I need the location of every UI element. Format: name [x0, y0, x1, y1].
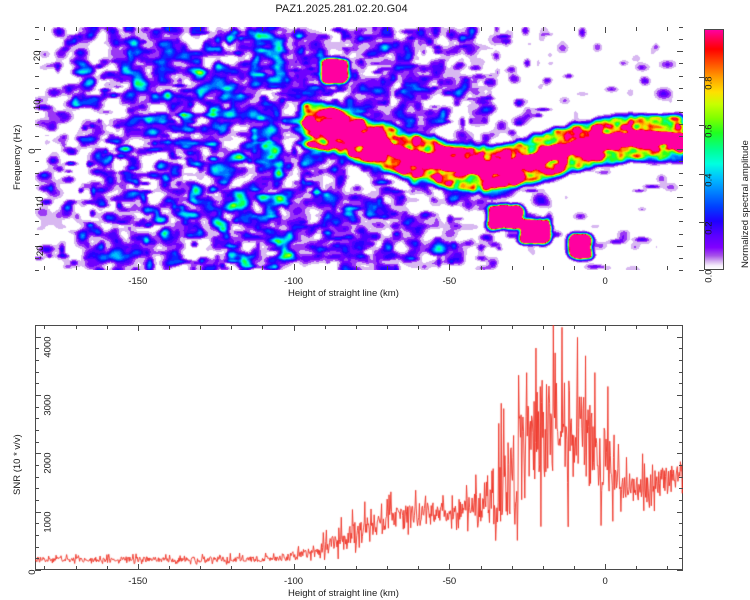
axis-tick [138, 264, 139, 270]
axis-tick [512, 566, 513, 570]
axis-tick [481, 27, 482, 31]
axis-tick [35, 325, 39, 326]
colorbar-tick-label: 0.0 [704, 270, 715, 283]
axis-tick [574, 325, 575, 329]
axis-tick [35, 500, 39, 501]
axis-tick [356, 325, 357, 329]
axis-tick [679, 221, 683, 222]
axis-tick [679, 209, 683, 210]
axis-tick [356, 266, 357, 270]
axis-tick [35, 558, 39, 559]
axis-tick [35, 27, 39, 28]
axis-tick [667, 566, 668, 570]
axis-tick [262, 27, 263, 31]
axis-tick [35, 488, 39, 489]
axis-tick [35, 465, 39, 466]
axis-tick [294, 27, 295, 33]
y-tick-label: 10 [32, 99, 43, 110]
axis-tick [231, 266, 232, 270]
axis-tick [231, 566, 232, 570]
spectrogram-y-axis-label: Frequency (Hz) [12, 125, 23, 190]
axis-tick [449, 564, 450, 570]
axis-tick [107, 27, 108, 31]
colorbar-tick-label: 0.6 [704, 125, 715, 138]
axis-tick [481, 325, 482, 329]
axis-tick [679, 39, 683, 40]
axis-tick [679, 547, 683, 548]
axis-tick [35, 523, 39, 524]
axis-tick [138, 564, 139, 570]
spectrogram-x-axis-label: Height of straight line (km) [288, 288, 399, 299]
axis-tick [35, 161, 39, 162]
x-tick-label: -150 [118, 576, 158, 587]
axis-tick [200, 27, 201, 31]
axis-tick [679, 76, 683, 77]
y-tick-label: 3000 [43, 395, 54, 416]
axis-tick [512, 27, 513, 31]
axis-tick [418, 266, 419, 270]
axis-tick [35, 234, 39, 235]
axis-tick [35, 372, 39, 373]
axis-tick [574, 266, 575, 270]
x-tick-label: 0 [585, 576, 625, 587]
axis-tick [418, 325, 419, 329]
axis-tick [325, 566, 326, 570]
axis-tick [325, 266, 326, 270]
axis-tick [605, 564, 606, 570]
axis-tick [679, 500, 683, 501]
axis-tick [679, 442, 683, 443]
y-tick-label: 0 [27, 570, 38, 575]
axis-tick [679, 173, 683, 174]
axis-tick [35, 418, 39, 419]
axis-tick [418, 27, 419, 31]
axis-tick [35, 360, 39, 361]
axis-tick [677, 149, 683, 150]
x-tick-label: -50 [429, 276, 469, 287]
axis-tick [387, 266, 388, 270]
axis-tick [679, 372, 683, 373]
axis-tick [449, 264, 450, 270]
axis-tick [35, 477, 39, 478]
axis-tick [231, 27, 232, 31]
axis-tick [679, 325, 683, 326]
axis-tick [35, 535, 39, 536]
figure-title: PAZ1.2025.281.02.20.G04 [0, 3, 683, 15]
axis-tick [231, 325, 232, 329]
axis-tick [35, 383, 39, 384]
axis-tick [35, 547, 39, 548]
axis-tick [679, 124, 683, 125]
axis-tick [356, 27, 357, 31]
snr-x-axis-label: Height of straight line (km) [288, 588, 399, 599]
y-tick-label: 1000 [43, 511, 54, 532]
axis-tick [543, 266, 544, 270]
colorbar-tick-label: 0.2 [704, 221, 715, 234]
axis-tick [574, 27, 575, 31]
axis-tick [138, 27, 139, 33]
axis-tick [636, 266, 637, 270]
axis-tick [574, 566, 575, 570]
axis-tick [262, 266, 263, 270]
y-tick-label: 4000 [43, 336, 54, 357]
axis-tick [35, 512, 41, 513]
axis-tick [636, 27, 637, 31]
axis-tick [677, 395, 683, 396]
axis-tick [679, 477, 683, 478]
colorbar-tick-label: 0.8 [704, 77, 715, 90]
y-tick-label: 0 [27, 148, 38, 153]
axis-tick [679, 234, 683, 235]
axis-tick [679, 407, 683, 408]
axis-tick [679, 63, 683, 64]
axis-tick [35, 442, 39, 443]
axis-tick [679, 136, 683, 137]
axis-tick [481, 566, 482, 570]
axis-tick [325, 325, 326, 329]
axis-tick [35, 124, 39, 125]
axis-tick [35, 39, 39, 40]
axis-tick [169, 27, 170, 31]
axis-tick [200, 266, 201, 270]
axis-tick [35, 185, 39, 186]
axis-tick [677, 100, 683, 101]
axis-tick [262, 566, 263, 570]
figure-root: PAZ1.2025.281.02.20.G04 -150-100-500-20-… [0, 0, 750, 600]
spectrogram-image [35, 27, 683, 270]
axis-tick [449, 325, 450, 331]
axis-tick [449, 27, 450, 33]
axis-tick [677, 337, 683, 338]
axis-tick [35, 395, 41, 396]
axis-tick [605, 264, 606, 270]
axis-tick [543, 27, 544, 31]
axis-tick [35, 337, 41, 338]
axis-tick [35, 63, 39, 64]
axis-tick [294, 264, 295, 270]
axis-tick [418, 566, 419, 570]
axis-tick [679, 270, 683, 271]
y-tick-label: -10 [35, 197, 46, 211]
axis-tick [677, 453, 683, 454]
y-tick-label: 20 [32, 51, 43, 62]
axis-tick [679, 383, 683, 384]
axis-tick [605, 27, 606, 33]
axis-tick [294, 564, 295, 570]
axis-tick [35, 270, 39, 271]
x-tick-label: 0 [585, 276, 625, 287]
axis-tick [35, 453, 41, 454]
axis-tick [512, 325, 513, 329]
axis-tick [44, 27, 45, 31]
axis-tick [325, 27, 326, 31]
axis-tick [679, 112, 683, 113]
axis-tick [200, 325, 201, 329]
axis-tick [294, 325, 295, 331]
axis-tick [636, 325, 637, 329]
y-tick-label: -20 [35, 245, 46, 259]
axis-tick [387, 566, 388, 570]
axis-tick [200, 566, 201, 570]
axis-tick [76, 266, 77, 270]
axis-tick [35, 173, 39, 174]
snr-y-axis-label: SNR (10 * v/v) [12, 434, 23, 495]
axis-tick [387, 27, 388, 31]
axis-tick [677, 512, 683, 513]
colorbar-title: Normalized spectral amplitude [740, 140, 750, 268]
axis-tick [667, 325, 668, 329]
axis-tick [35, 112, 39, 113]
axis-tick [679, 88, 683, 89]
axis-tick [679, 360, 683, 361]
axis-tick [481, 266, 482, 270]
axis-tick [44, 266, 45, 270]
x-tick-label: -150 [118, 276, 158, 287]
axis-tick [512, 266, 513, 270]
axis-tick [35, 407, 39, 408]
x-tick-label: -100 [274, 276, 314, 287]
axis-tick [677, 570, 683, 571]
colorbar-tick-label: 0.4 [704, 173, 715, 186]
axis-tick [35, 348, 39, 349]
axis-tick [169, 325, 170, 329]
axis-tick [679, 523, 683, 524]
axis-tick [677, 197, 683, 198]
axis-tick [169, 566, 170, 570]
axis-tick [35, 221, 39, 222]
axis-tick [679, 418, 683, 419]
axis-tick [169, 266, 170, 270]
axis-tick [76, 27, 77, 31]
axis-tick [35, 76, 39, 77]
axis-tick [679, 488, 683, 489]
y-tick-label: 2000 [43, 453, 54, 474]
axis-tick [35, 136, 39, 137]
axis-tick [356, 566, 357, 570]
axis-tick [605, 325, 606, 331]
axis-tick [44, 566, 45, 570]
axis-tick [679, 465, 683, 466]
axis-tick [138, 325, 139, 331]
axis-tick [76, 325, 77, 329]
axis-tick [35, 430, 39, 431]
axis-tick [667, 27, 668, 31]
x-tick-label: -100 [274, 576, 314, 587]
axis-tick [76, 566, 77, 570]
snr-plot-area [35, 325, 683, 570]
axis-tick [543, 325, 544, 329]
axis-tick [679, 348, 683, 349]
axis-tick [679, 258, 683, 259]
axis-tick [679, 27, 683, 28]
axis-tick [107, 566, 108, 570]
axis-tick [679, 430, 683, 431]
axis-tick [677, 51, 683, 52]
axis-tick [262, 325, 263, 329]
axis-tick [667, 266, 668, 270]
axis-tick [679, 558, 683, 559]
axis-tick [679, 185, 683, 186]
axis-tick [636, 566, 637, 570]
axis-tick [107, 266, 108, 270]
axis-tick [107, 325, 108, 329]
axis-tick [35, 88, 39, 89]
axis-tick [543, 566, 544, 570]
x-tick-label: -50 [429, 576, 469, 587]
axis-tick [679, 161, 683, 162]
axis-tick [44, 325, 45, 329]
axis-tick [677, 246, 683, 247]
axis-tick [679, 535, 683, 536]
axis-tick [387, 325, 388, 329]
